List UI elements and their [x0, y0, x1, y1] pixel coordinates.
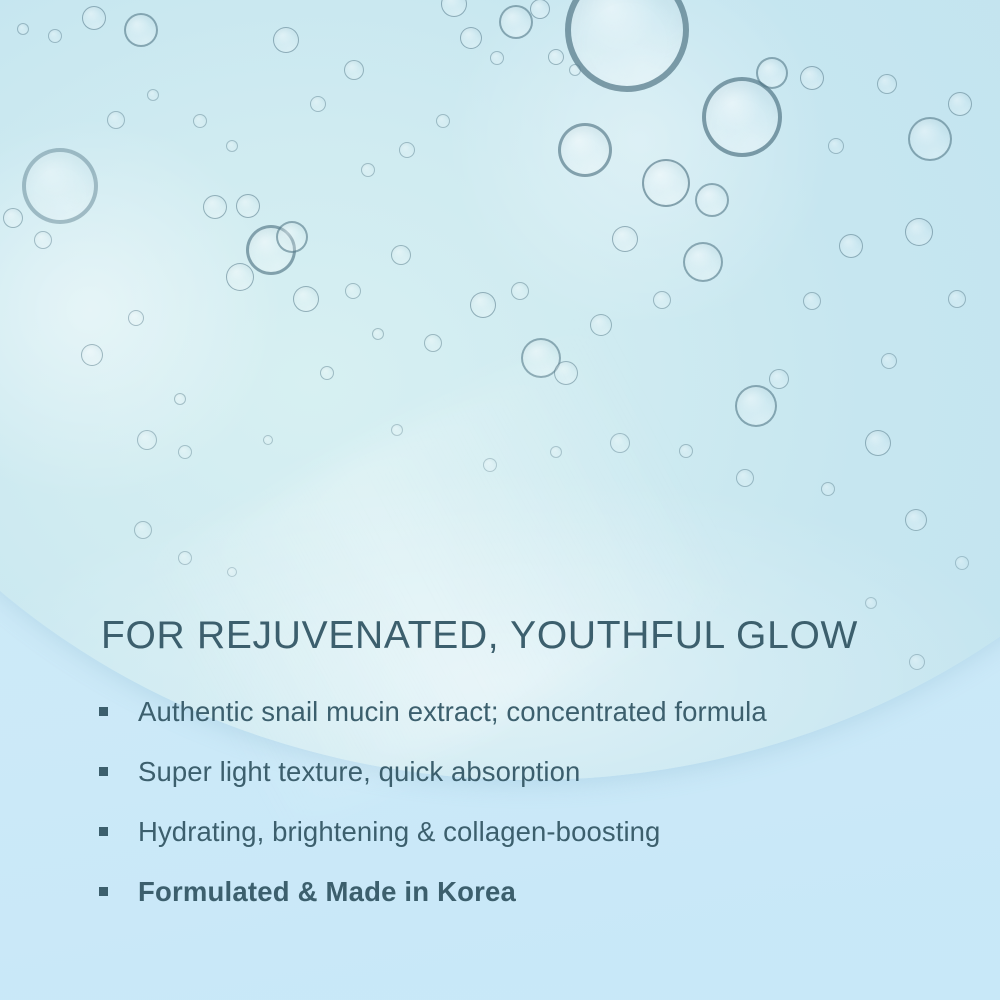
bubble-shape: [227, 567, 237, 577]
bubble-shape: [470, 292, 496, 318]
bubble-shape: [178, 445, 192, 459]
bubble-shape: [441, 0, 467, 17]
bubble-shape: [3, 208, 23, 228]
bubble-shape: [134, 521, 152, 539]
square-bullet-icon: [99, 767, 108, 776]
bubble-shape: [769, 369, 789, 389]
bubble-shape: [483, 458, 497, 472]
bubble-shape: [34, 231, 52, 249]
bubble-shape: [736, 469, 754, 487]
bubble-shape: [565, 0, 689, 92]
bubble-shape: [17, 23, 29, 35]
bubble-shape: [399, 142, 415, 158]
bubble-shape: [124, 13, 158, 47]
bubble-shape: [361, 163, 375, 177]
bubble-shape: [511, 282, 529, 300]
list-item: Authentic snail mucin extract; concentra…: [99, 696, 939, 756]
bubble-shape: [679, 444, 693, 458]
bubble-shape: [226, 263, 254, 291]
bubble-shape: [128, 310, 144, 326]
bubble-shape: [702, 77, 782, 157]
bubble-shape: [82, 6, 106, 30]
bubble-shape: [147, 89, 159, 101]
bubble-shape: [203, 195, 227, 219]
bubble-shape: [460, 27, 482, 49]
bubble-shape: [735, 385, 777, 427]
list-item: Hydrating, brightening & collagen-boosti…: [99, 816, 939, 876]
bubble-shape: [178, 551, 192, 565]
bubble-shape: [436, 114, 450, 128]
bubble-shape: [499, 5, 533, 39]
bubble-shape: [137, 430, 157, 450]
bubble-shape: [174, 393, 186, 405]
bubble-shape: [803, 292, 821, 310]
product-feature-poster: FOR REJUVENATED, YOUTHFUL GLOW Authentic…: [0, 0, 1000, 1000]
bubble-shape: [276, 221, 308, 253]
bubble-shape: [905, 218, 933, 246]
list-item: Formulated & Made in Korea: [99, 876, 939, 936]
bubble-shape: [955, 556, 969, 570]
square-bullet-icon: [99, 887, 108, 896]
list-item-label: Formulated & Made in Korea: [138, 876, 516, 908]
bubble-shape: [81, 344, 103, 366]
bubble-shape: [590, 314, 612, 336]
bubble-shape: [263, 435, 273, 445]
bubble-shape: [908, 117, 952, 161]
bubble-shape: [226, 140, 238, 152]
feature-bullet-list: Authentic snail mucin extract; concentra…: [99, 696, 939, 936]
bubble-shape: [948, 290, 966, 308]
bubble-shape: [756, 57, 788, 89]
bubble-shape: [424, 334, 442, 352]
bubble-shape: [569, 64, 581, 76]
bubble-shape: [548, 49, 564, 65]
bubble-shape: [839, 234, 863, 258]
bubble-shape: [530, 0, 550, 19]
bubble-shape: [554, 361, 578, 385]
bubble-shape: [48, 29, 62, 43]
bubble-shape: [653, 291, 671, 309]
square-bullet-icon: [99, 707, 108, 716]
page-title: FOR REJUVENATED, YOUTHFUL GLOW: [101, 614, 858, 658]
list-item: Super light texture, quick absorption: [99, 756, 939, 816]
bubble-shape: [22, 148, 98, 224]
bubble-shape: [391, 245, 411, 265]
bubble-shape: [881, 353, 897, 369]
bubble-shape: [683, 242, 723, 282]
list-item-label: Authentic snail mucin extract; concentra…: [138, 696, 767, 728]
bubble-shape: [372, 328, 384, 340]
bubble-shape: [612, 226, 638, 252]
bubble-shape: [865, 430, 891, 456]
bubble-shape: [877, 74, 897, 94]
bubble-shape: [948, 92, 972, 116]
bubble-shape: [273, 27, 299, 53]
square-bullet-icon: [99, 827, 108, 836]
bubble-shape: [293, 286, 319, 312]
bubble-shape: [107, 111, 125, 129]
bubble-shape: [345, 283, 361, 299]
bubble-shape: [320, 366, 334, 380]
bubble-shape: [800, 66, 824, 90]
bubble-shape: [550, 446, 562, 458]
bubble-shape: [391, 424, 403, 436]
bubble-shape: [310, 96, 326, 112]
bubble-shape: [236, 194, 260, 218]
bubble-shape: [193, 114, 207, 128]
list-item-label: Super light texture, quick absorption: [138, 756, 580, 788]
bubble-shape: [610, 433, 630, 453]
bubble-shape: [490, 51, 504, 65]
bubble-shape: [821, 482, 835, 496]
bubble-shape: [642, 159, 690, 207]
bubble-shape: [828, 138, 844, 154]
list-item-label: Hydrating, brightening & collagen-boosti…: [138, 816, 660, 848]
bubble-shape: [558, 123, 612, 177]
bubble-shape: [905, 509, 927, 531]
text-panel: FOR REJUVENATED, YOUTHFUL GLOW Authentic…: [0, 600, 1000, 1000]
bubble-shape: [695, 183, 729, 217]
bubble-shape: [344, 60, 364, 80]
